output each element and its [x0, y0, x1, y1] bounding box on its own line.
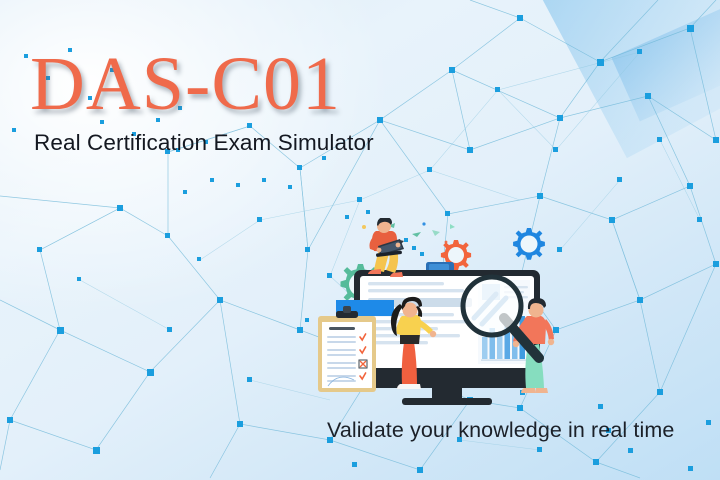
corner-accent-band-secondary [611, 5, 720, 122]
headline-block: DAS-C01 Real Certification Exam Simulato… [30, 48, 374, 156]
analytics-teamwork-illustration [296, 218, 596, 410]
tagline: Validate your knowledge in real time [327, 418, 674, 443]
clipboard-checklist [318, 306, 376, 392]
clipboard-header-label [329, 327, 355, 330]
page-title: DAS-C01 [30, 48, 374, 121]
gear-blue-icon [513, 228, 545, 260]
page-subtitle: Real Certification Exam Simulator [34, 130, 374, 156]
corner-accent-band [538, 0, 720, 158]
promo-banner: DAS-C01 Real Certification Exam Simulato… [0, 0, 720, 480]
